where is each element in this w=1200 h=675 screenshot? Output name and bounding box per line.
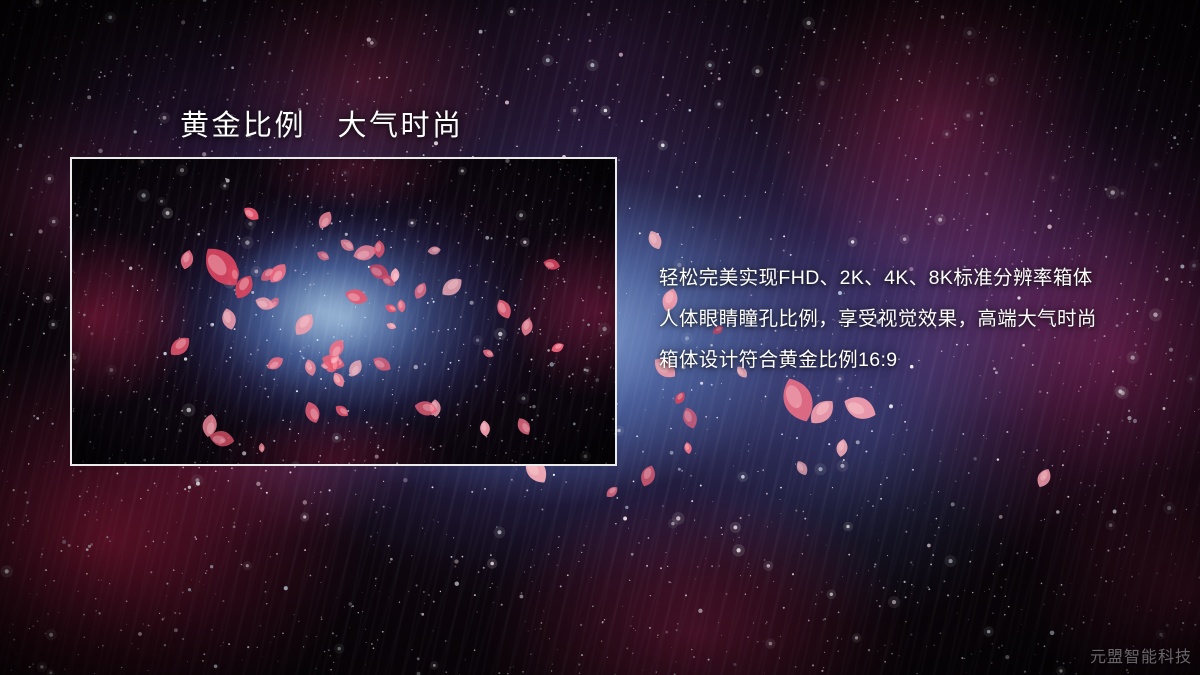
page-title: 黄金比例 大气时尚: [180, 102, 464, 144]
panel-vignette: [72, 159, 615, 464]
body-line-1: 轻松完美实现FHD、2K、4K、8K标准分辨率箱体: [659, 258, 1179, 299]
body-line-3: 箱体设计符合黄金比例16:9: [659, 340, 1179, 381]
watermark-label: 元盟智能科技: [1090, 643, 1192, 667]
slide-canvas: 黄金比例 大气时尚 轻松完美实现FHD、2K、4K、8K标准分辨率箱体 人体眼睛…: [0, 0, 1200, 675]
framed-image-panel: [70, 157, 617, 466]
body-line-2: 人体眼睛瞳孔比例，享受视觉效果，高端大气时尚: [659, 299, 1179, 340]
body-text-block: 轻松完美实现FHD、2K、4K、8K标准分辨率箱体 人体眼睛瞳孔比例，享受视觉效…: [659, 258, 1179, 381]
